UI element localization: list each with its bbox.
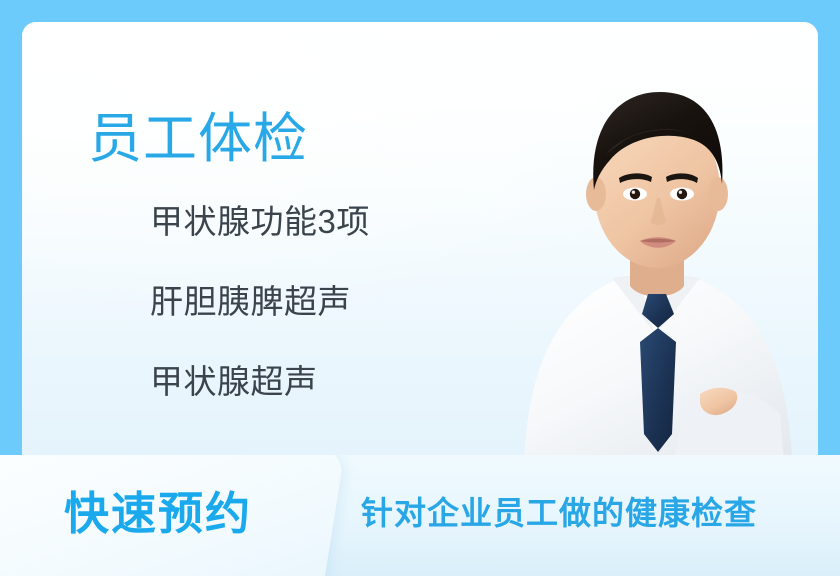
page-title: 员工体检: [88, 110, 308, 168]
list-item: 甲状腺功能3项: [150, 205, 370, 238]
promo-banner: 员工体检 甲状腺功能3项 肝胆胰脾超声 甲状腺超声: [0, 0, 840, 576]
list-item: 甲状腺超声: [150, 365, 370, 398]
book-now-label[interactable]: 快速预约: [64, 491, 252, 536]
feature-list: 甲状腺功能3项 肝胆胰脾超声 甲状腺超声: [150, 205, 370, 398]
tagline: 针对企业员工做的健康检查: [361, 497, 757, 529]
model-photo: [488, 42, 818, 462]
list-item: 肝胆胰脾超声: [150, 285, 370, 318]
content-card: 员工体检 甲状腺功能3项 肝胆胰脾超声 甲状腺超声: [22, 22, 818, 462]
bottom-bar: 快速预约 针对企业员工做的健康检查: [0, 455, 840, 576]
